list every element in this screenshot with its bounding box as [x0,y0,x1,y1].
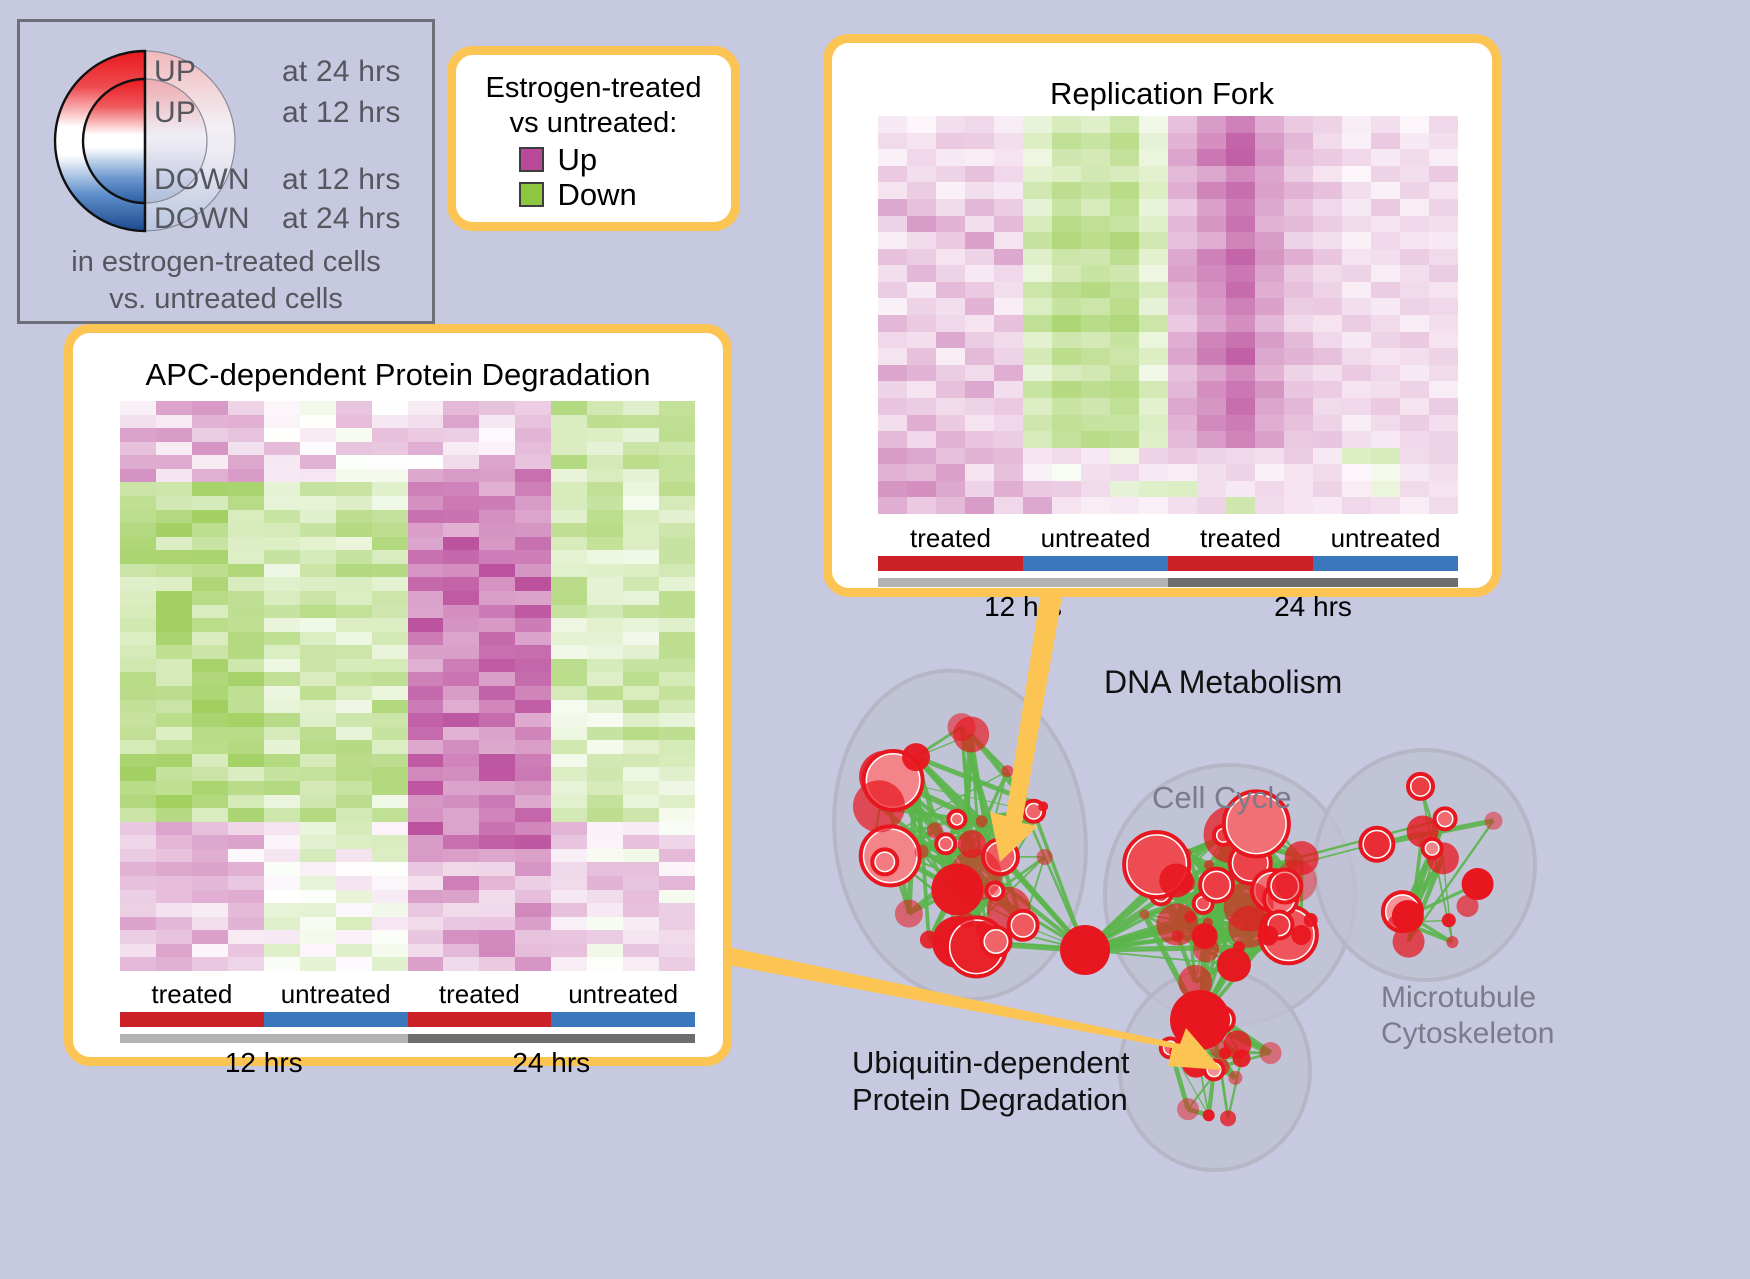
network-node[interactable] [1446,936,1458,948]
heatmap-cell [1081,265,1110,282]
heatmap-cell [1226,464,1255,481]
heatmap-cell [623,835,659,849]
network-node[interactable] [1228,1071,1242,1085]
heatmap-cell [300,754,336,768]
heatmap-cell [1342,448,1371,465]
heatmap-cell [1139,398,1168,415]
heatmap-cell [623,482,659,496]
network-node[interactable] [1203,918,1213,928]
heatmap-cell [623,795,659,809]
network-node[interactable] [985,931,1007,953]
heatmap-cell [1052,232,1081,249]
heatmap-cell [192,550,228,564]
heatmap-cell [228,428,264,442]
network-node[interactable] [1291,925,1311,945]
heatmap-cell [1023,182,1052,199]
heatmap-cell [336,781,372,795]
heatmap-cell [515,740,551,754]
network-node[interactable] [1426,842,1438,854]
network-node[interactable] [952,814,962,824]
heatmap-cell [300,564,336,578]
heatmap-cell [300,672,336,686]
heatmap-cell [1197,398,1226,415]
heatmap-cell [551,605,587,619]
heatmap-cell [1197,282,1226,299]
heatmap-cell [1168,265,1197,282]
heatmap-cell [1284,166,1313,183]
heatmap-cell [479,917,515,931]
heatmap-cell [336,645,372,659]
heatmap-cell [994,448,1023,465]
heatmap-cell [515,890,551,904]
heatmap-cell [623,862,659,876]
heatmap-cell [336,591,372,605]
heatmap-cell [372,672,408,686]
heatmap-cell [1284,398,1313,415]
heatmap-cell [1255,149,1284,166]
heatmap-cell [120,618,156,632]
heatmap-cell [1081,249,1110,266]
heatmap-cell [228,482,264,496]
heatmap-cell [120,700,156,714]
heatmap-cell [936,149,965,166]
heatmap-cell [120,808,156,822]
heatmap-cell [587,700,623,714]
network-node[interactable] [1001,765,1013,777]
heatmap-cell [907,415,936,432]
heatmap-cell [1255,199,1284,216]
heatmap-cell [300,415,336,429]
heatmap-cell [372,442,408,456]
heatmap-cell [623,645,659,659]
heatmap-cell [1255,497,1284,514]
heatmap-cell [1226,166,1255,183]
heatmap-cell [515,808,551,822]
heatmap-cell [515,862,551,876]
heatmap-cell [1400,249,1429,266]
heatmap-cell [587,727,623,741]
network-node[interactable] [1208,1064,1220,1076]
heatmap-cell [1023,431,1052,448]
heatmap-cell [623,903,659,917]
network-node[interactable] [1184,911,1196,923]
heatmap-cell [192,577,228,591]
heatmap-cell [659,591,695,605]
network-node[interactable] [1364,831,1390,857]
heatmap-cell [1400,166,1429,183]
heatmap-cell [623,917,659,931]
heatmap-cell [1168,282,1197,299]
heatmap-cell [1081,116,1110,133]
heatmap-cell [551,903,587,917]
network-node[interactable] [1304,913,1318,927]
heatmap-cell [264,537,300,551]
heatmap-cell [443,591,479,605]
heatmap-cell [659,455,695,469]
heatmap-cell [659,862,695,876]
heatmap-cell [1313,199,1342,216]
heatmap-cell [192,700,228,714]
heatmap-cell [264,754,300,768]
heatmap-cell [120,727,156,741]
heatmap-cell [336,401,372,415]
heatmap-cell [443,686,479,700]
heatmap-cell [228,577,264,591]
heatmap-cell [408,713,444,727]
network-node[interactable] [1159,863,1193,897]
heatmap-cell [623,537,659,551]
heatmap-cell [1023,448,1052,465]
heatmap-cell [264,482,300,496]
heatmap-cell [228,876,264,890]
heatmap-cell [1226,216,1255,233]
apc-time-label-24: 24 hrs [408,1047,696,1079]
network-node[interactable] [1275,860,1317,902]
heatmap-cell [300,903,336,917]
heatmap-cell [120,903,156,917]
heatmap-cell [156,686,192,700]
heatmap-cell [264,930,300,944]
heatmap-cell [965,332,994,349]
network-node[interactable] [1217,948,1251,982]
heatmap-cell [192,455,228,469]
heatmap-cell [1052,365,1081,382]
heatmap-cell [551,781,587,795]
heatmap-cell [300,890,336,904]
heatmap-cell [479,401,515,415]
heatmap-cell [408,822,444,836]
network-node[interactable] [1204,872,1230,898]
key-label-down-12: DOWN [154,163,282,197]
heatmap-cell [300,700,336,714]
network-node[interactable] [1170,990,1230,1050]
heatmap-cell [994,415,1023,432]
heatmap-cell [1371,365,1400,382]
heatmap-cell [1371,232,1400,249]
heatmap-cell [907,348,936,365]
heatmap-cell [1168,415,1197,432]
heatmap-cell [587,767,623,781]
heatmap-cell [907,149,936,166]
network-node[interactable] [1192,923,1218,949]
heatmap-cell [300,428,336,442]
heatmap-cell [1342,415,1371,432]
heatmap-cell [587,781,623,795]
heatmap-cell [965,448,994,465]
network-node[interactable] [1171,930,1183,942]
heatmap-cell [1255,365,1284,382]
heatmap-cell [659,632,695,646]
heatmap-cell [659,795,695,809]
heatmap-cell [336,700,372,714]
heatmap-cell [264,645,300,659]
heatmap-cell [587,564,623,578]
network-node[interactable] [1012,914,1034,936]
heatmap-cell [1313,149,1342,166]
heatmap-cell [1371,381,1400,398]
heatmap-cell [443,957,479,971]
heatmap-cell [1342,182,1371,199]
heatmap-cell [659,537,695,551]
heatmap-cell [1400,116,1429,133]
network-node[interactable] [1484,812,1502,830]
heatmap-cell [551,564,587,578]
heatmap-cell [1081,199,1110,216]
heatmap-cell [228,591,264,605]
heatmap-cell [623,510,659,524]
key-label-up-24: UP [154,55,282,89]
network-node[interactable] [1175,1047,1187,1059]
network-node[interactable] [1177,1098,1199,1120]
heatmap-cell [623,659,659,673]
heatmap-cell [1371,133,1400,150]
col-label-untreated-12: untreated [1023,523,1168,554]
heatmap-cell [228,496,264,510]
network-node[interactable] [853,780,905,832]
heatmap-cell [372,659,408,673]
ubiquitin-line2: Protein Degradation [852,1081,1130,1118]
heatmap-cell [228,537,264,551]
heatmap-cell [1429,381,1458,398]
heatmap-cell [551,523,587,537]
heatmap-cell [1313,315,1342,332]
apc-degradation-panel: APC-dependent Protein Degradation treate… [64,324,732,1066]
apc-column-labels: treated untreated treated untreated [120,979,695,1010]
heatmap-cell [1400,365,1429,382]
heatmap-cell [300,482,336,496]
heatmap-cell [659,428,695,442]
heatmap-cell [336,835,372,849]
heatmap-cell [443,713,479,727]
network-node[interactable] [920,931,938,949]
heatmap-cell [228,903,264,917]
heatmap-cell [1284,348,1313,365]
heatmap-cell [264,767,300,781]
heatmap-cell [551,496,587,510]
heatmap-cell [1429,249,1458,266]
network-node[interactable] [1219,1047,1231,1059]
heatmap-cell [156,605,192,619]
heatmap-cell [408,496,444,510]
heatmap-cell [1168,232,1197,249]
heatmap-cell [1139,199,1168,216]
heatmap-cell [336,672,372,686]
heatmap-cell [1081,481,1110,498]
heatmap-cell [965,249,994,266]
heatmap-cell [156,442,192,456]
heatmap-cell [479,415,515,429]
heatmap-cell [156,957,192,971]
network-node[interactable] [950,849,1002,901]
heatmap-cell [1110,332,1139,349]
network-node[interactable] [958,912,974,928]
heatmap-cell [192,944,228,958]
heatmap-cell [878,149,907,166]
heatmap-cell [479,944,515,958]
heatmap-cell [1400,448,1429,465]
heatmap-cell [587,822,623,836]
network-node[interactable] [1260,1042,1282,1064]
heatmap-cell [372,523,408,537]
network-node[interactable] [895,900,923,928]
heatmap-cell [336,754,372,768]
heatmap-cell [443,510,479,524]
heatmap-cell [587,523,623,537]
network-node[interactable] [1038,801,1048,811]
heatmap-cell [479,591,515,605]
heatmap-cell [192,767,228,781]
network-node[interactable] [915,845,929,859]
replication-fork-column-labels: treated untreated treated untreated [878,523,1458,554]
heatmap-cell [587,876,623,890]
heatmap-cell [1400,381,1429,398]
heatmap-cell [1342,481,1371,498]
network-node[interactable] [1060,925,1110,975]
heatmap-cell [1313,332,1342,349]
heatmap-cell [336,957,372,971]
heatmap-cell [336,944,372,958]
heatmap-cell [1400,298,1429,315]
key-caption: in estrogen-treated cells vs. untreated … [20,244,432,318]
network-node[interactable] [1442,913,1456,927]
network-node[interactable] [976,815,988,827]
heatmap-cell [408,523,444,537]
heatmap-cell [659,876,695,890]
network-node[interactable] [1438,812,1452,826]
heatmap-cell [587,686,623,700]
network-node[interactable] [1392,900,1424,932]
heatmap-cell [1197,497,1226,514]
updown-title-line2: vs untreated: [485,106,701,140]
heatmap-cell [1023,332,1052,349]
network-node[interactable] [1258,926,1278,946]
heatmap-cell [659,754,695,768]
heatmap-cell [936,448,965,465]
heatmap-cell [1226,249,1255,266]
heatmap-cell [192,591,228,605]
heatmap-cell [192,835,228,849]
network-node[interactable] [953,716,989,752]
heatmap-cell [120,577,156,591]
network-node[interactable] [1204,860,1214,870]
network-node[interactable] [927,822,943,838]
network-node[interactable] [1412,777,1430,795]
heatmap-cell [623,876,659,890]
time-label-24: 24 hrs [1168,591,1458,623]
ubiquitin-line1: Ubiquitin-dependent [852,1044,1130,1081]
heatmap-cell [551,700,587,714]
heatmap-cell [1371,182,1400,199]
heatmap-cell [965,497,994,514]
heatmap-cell [1371,282,1400,299]
heatmap-cell [1342,298,1371,315]
heatmap-cell [587,632,623,646]
heatmap-cell [372,618,408,632]
heatmap-cell [551,740,587,754]
heatmap-cell [408,862,444,876]
heatmap-cell [1342,464,1371,481]
heatmap-cell [372,537,408,551]
heatmap-cell [878,133,907,150]
heatmap-cell [336,659,372,673]
heatmap-cell [443,890,479,904]
heatmap-cell [659,957,695,971]
ring-legend-box: UP at 24 hrs UP at 12 hrs DOWN at 12 hrs… [17,19,435,324]
heatmap-cell [228,767,264,781]
heatmap-cell [994,431,1023,448]
heatmap-cell [1052,199,1081,216]
heatmap-cell [1313,249,1342,266]
heatmap-cell [587,862,623,876]
heatmap-cell [372,876,408,890]
heatmap-cell [300,401,336,415]
heatmap-cell [515,944,551,958]
heatmap-cell [192,849,228,863]
heatmap-cell [1429,133,1458,150]
heatmap-cell [1342,398,1371,415]
network-node[interactable] [1037,849,1053,865]
network-node[interactable] [940,838,952,850]
key-label-up-12: UP [154,96,282,130]
heatmap-cell [228,740,264,754]
network-node[interactable] [1233,941,1245,953]
heatmap-cell [878,249,907,266]
heatmap-cell [1429,166,1458,183]
heatmap-cell [443,482,479,496]
network-node[interactable] [876,853,894,871]
heatmap-cell [936,133,965,150]
heatmap-cell [120,781,156,795]
heatmap-cell [443,564,479,578]
heatmap-cell [120,469,156,483]
heatmap-cell [443,876,479,890]
heatmap-cell [936,265,965,282]
heatmap-cell [1110,116,1139,133]
heatmap-cell [120,401,156,415]
heatmap-cell [1023,464,1052,481]
heatmap-cell [372,890,408,904]
heatmap-cell [936,199,965,216]
network-node[interactable] [1462,868,1494,900]
network-node[interactable] [1203,1109,1215,1121]
heatmap-cell [587,849,623,863]
heatmap-cell [336,564,372,578]
heatmap-cell [1400,415,1429,432]
heatmap-cell [1197,332,1226,349]
heatmap-cell [623,523,659,537]
heatmap-cell [1052,431,1081,448]
heatmap-cell [551,727,587,741]
heatmap-cell [936,431,965,448]
network-node[interactable] [1233,1049,1251,1067]
heatmap-cell [1052,381,1081,398]
heatmap-cell [228,727,264,741]
heatmap-cell [1023,265,1052,282]
network-node[interactable] [1139,909,1149,919]
heatmap-cell [878,182,907,199]
heatmap-cell [1371,415,1400,432]
heatmap-cell [1110,182,1139,199]
network-node[interactable] [902,743,930,771]
heatmap-cell [994,315,1023,332]
heatmap-cell [587,415,623,429]
heatmap-cell [1371,431,1400,448]
heatmap-cell [443,917,479,931]
heatmap-cell [623,822,659,836]
network-node[interactable] [1220,1110,1236,1126]
heatmap-cell [1110,216,1139,233]
heatmap-cell [1342,497,1371,514]
